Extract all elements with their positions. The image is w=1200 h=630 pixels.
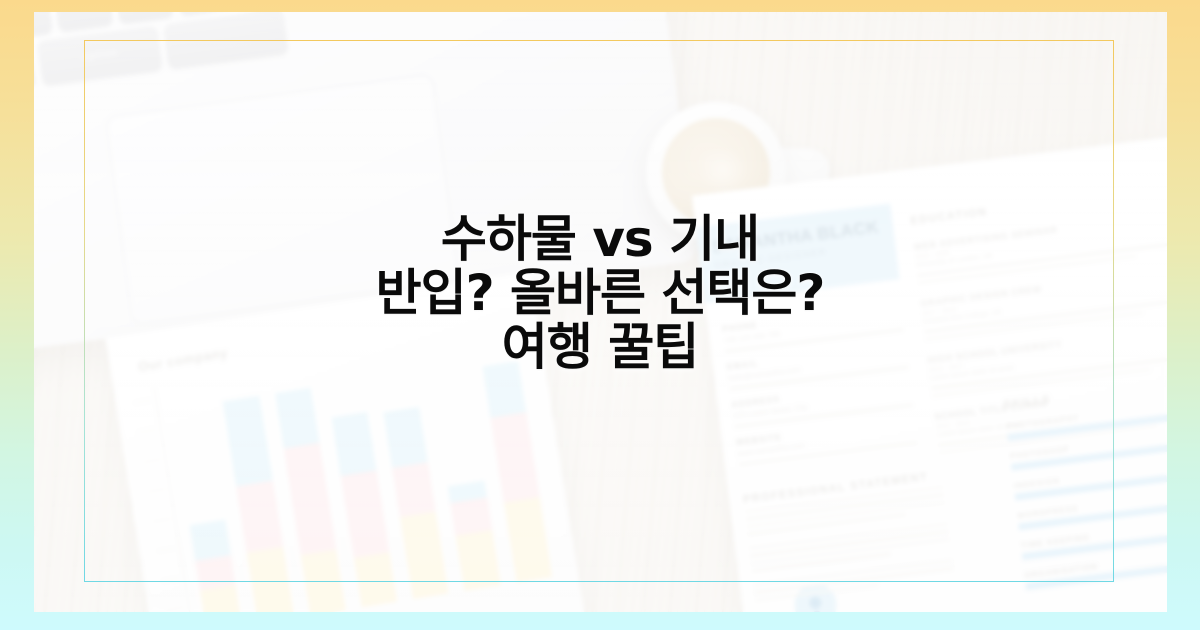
resume-statement-block: PROFESSIONAL STATEMENT	[742, 469, 954, 601]
bar-stack	[448, 481, 500, 591]
resume-contact-block: PHONE+00 123 456 789EMAILhello@samantha.…	[721, 293, 918, 466]
bar-segment	[200, 585, 242, 612]
bar-segment	[190, 519, 231, 560]
keyboard-key-space	[163, 12, 288, 68]
keyboard-key: V	[54, 12, 113, 31]
bar-segment	[300, 549, 345, 612]
thumbnail-card: D F G H J K X C V B N M	[0, 0, 1200, 630]
resume-name-bar: SAMANTHA BLACK GRAPHIC DESIGNER	[696, 204, 900, 303]
resume-document: SAMANTHA BLACK GRAPHIC DESIGNER PHONE+00…	[692, 132, 1167, 612]
bar-segment	[384, 407, 429, 468]
bar-segment	[456, 530, 501, 591]
bar-segment	[236, 481, 282, 553]
bar-segment	[482, 360, 526, 418]
keyboard-key-option: option	[37, 25, 162, 84]
keyboard-key: N	[175, 12, 234, 15]
keyboard-key-command: command	[34, 42, 36, 98]
bar-segment	[400, 511, 449, 599]
bar-segment	[392, 462, 436, 517]
bar-segment	[341, 470, 390, 558]
bar-segment	[275, 388, 320, 449]
background-photo: D F G H J K X C V B N M	[34, 12, 1167, 612]
avatar-glyph	[809, 596, 822, 609]
laptop-trackpad	[105, 74, 460, 325]
bar-stack	[190, 519, 243, 612]
bar-segment	[331, 412, 376, 475]
bar-segment	[490, 413, 539, 504]
coffee-foam	[696, 148, 750, 192]
keyboard-key: B	[114, 12, 173, 23]
bar-segment	[223, 396, 272, 487]
bar-segment	[354, 552, 398, 607]
bar-stack	[384, 407, 449, 599]
skills-list: PHOTOGRAPHYPHOTOSHOPINDESIGNWORDPRESSTIM…	[1006, 396, 1167, 590]
report-bar-chart	[167, 330, 552, 612]
bar-segment	[283, 442, 336, 555]
bar-segment	[247, 547, 294, 612]
bar-segment	[504, 498, 552, 583]
key-row: command option	[34, 12, 629, 98]
resume-skills-block: SKILLS PHOTOGRAPHYPHOTOSHOPINDESIGNWORDP…	[1003, 373, 1167, 590]
keyboard-key: C	[34, 12, 52, 39]
